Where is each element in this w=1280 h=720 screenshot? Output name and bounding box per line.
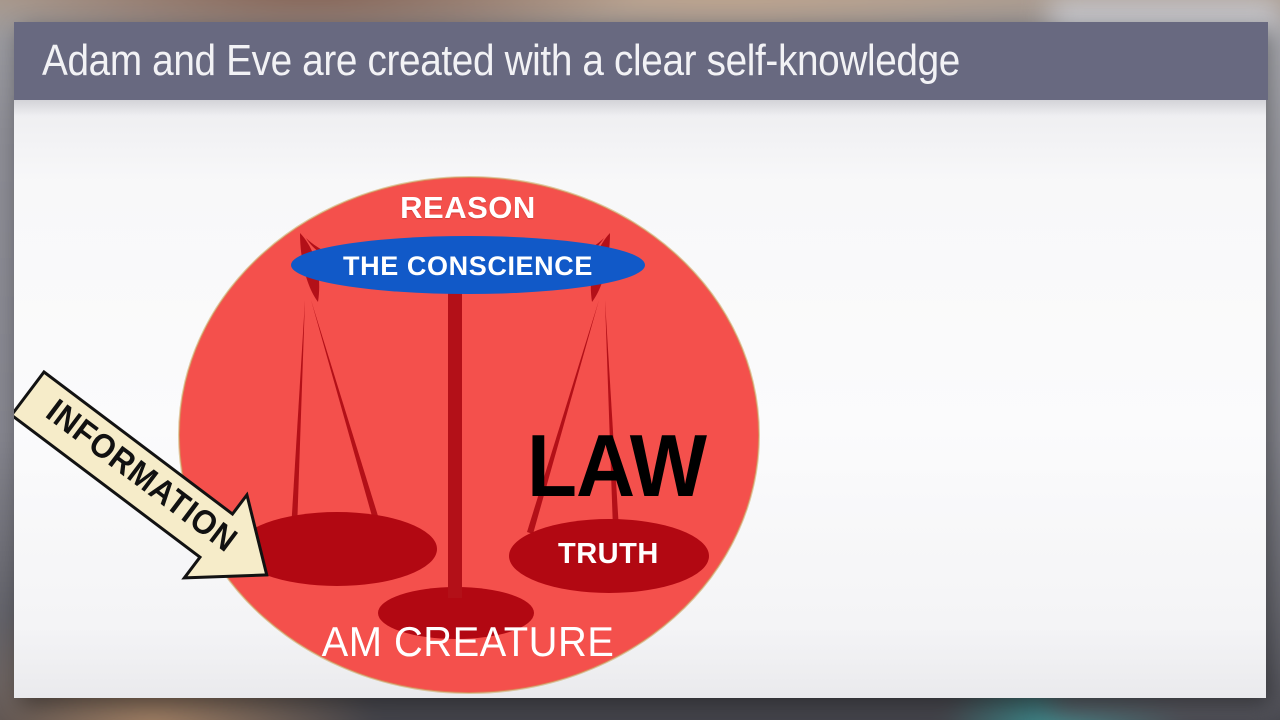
am-creature-label: AM CREATURE (0, 618, 1076, 666)
conscience-label: THE CONSCIENCE (0, 251, 1108, 282)
slide-title-bar: Adam and Eve are created with a clear se… (14, 22, 1268, 100)
reason-label: REASON (0, 190, 1108, 226)
slide-stage: REASON THE CONSCIENCE LAW TRUTH AM CREAT… (0, 0, 1280, 720)
law-label: LAW (527, 422, 706, 510)
truth-label: TRUTH (558, 538, 659, 571)
page-title: Adam and Eve are created with a clear se… (42, 36, 960, 86)
